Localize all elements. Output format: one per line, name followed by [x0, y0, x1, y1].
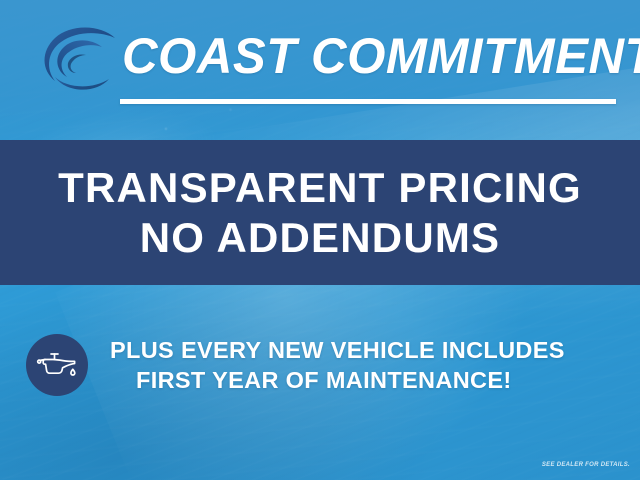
maintenance-text: PLUS EVERY NEW VEHICLE INCLUDES FIRST YE… — [110, 335, 565, 395]
maintenance-line-2: FIRST YEAR OF MAINTENANCE! — [110, 365, 565, 395]
header-divider — [120, 99, 616, 104]
oil-can-icon — [35, 348, 79, 382]
maintenance-line-1: PLUS EVERY NEW VEHICLE INCLUDES — [110, 337, 565, 363]
banner-header: COAST COMMITMENT — [0, 0, 640, 140]
oil-can-badge — [26, 334, 88, 396]
promise-line-transparent-pricing: TRANSPARENT PRICING — [58, 163, 582, 213]
promise-line-no-addendums: NO ADDENDUMS — [140, 213, 501, 263]
promise-band: TRANSPARENT PRICING NO ADDENDUMS — [0, 140, 640, 285]
coast-commitment-banner: COAST COMMITMENT TRANSPARENT PRICING NO … — [0, 0, 640, 480]
maintenance-offer: PLUS EVERY NEW VEHICLE INCLUDES FIRST YE… — [0, 320, 640, 410]
disclaimer-text: SEE DEALER FOR DETAILS. — [542, 462, 630, 468]
wave-swoosh-logo-icon — [36, 22, 122, 94]
page-title: COAST COMMITMENT — [122, 20, 615, 92]
